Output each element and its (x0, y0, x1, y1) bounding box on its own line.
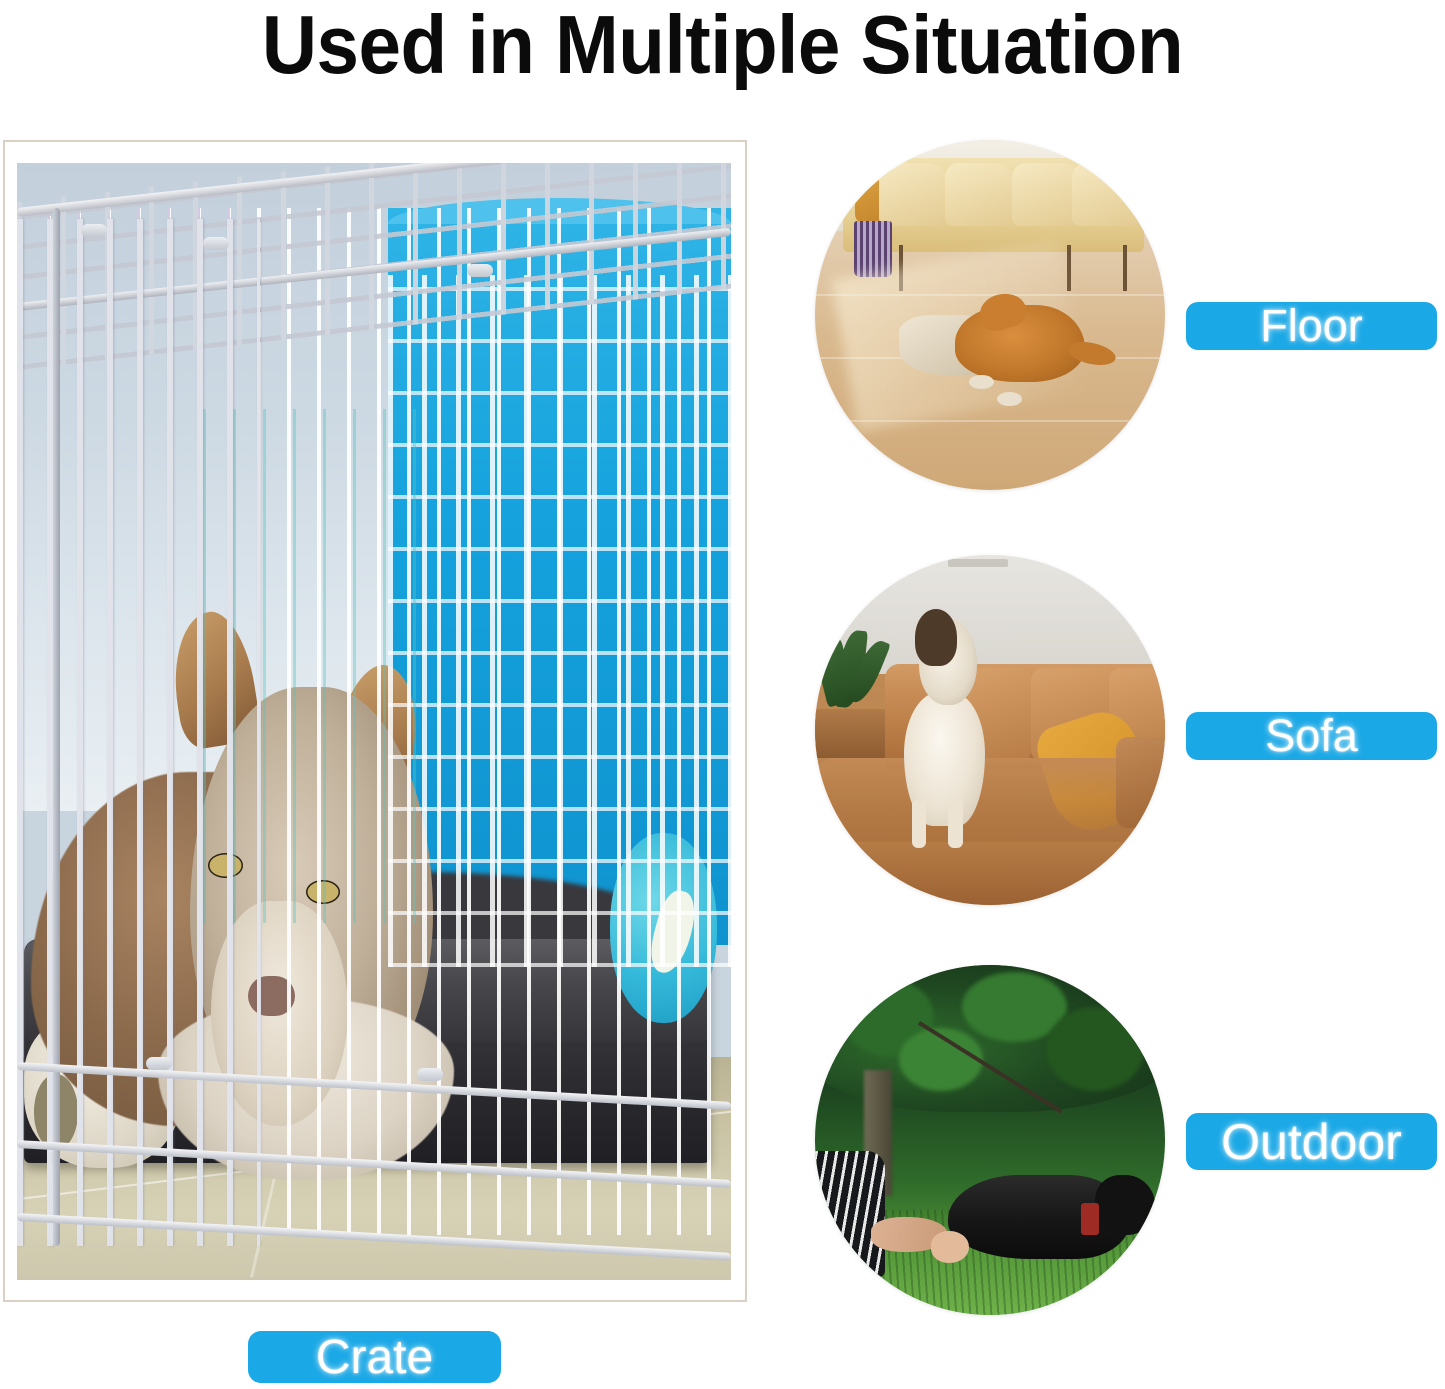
situation-outdoor-photo (815, 965, 1165, 1315)
sofa-scene-dog-leg (912, 800, 927, 848)
crate-photo-card (3, 140, 747, 1302)
situation-floor (815, 140, 1165, 490)
situation-sofa-photo (815, 555, 1165, 905)
page-title: Used in Multiple Situation (58, 0, 1387, 92)
outdoor-scene (815, 965, 1165, 1315)
label-badge-sofa: Sofa (1186, 712, 1437, 760)
floor-scene-cushion (1012, 163, 1078, 225)
floor-scene-cushion (945, 163, 1011, 225)
sofa-scene-ceiling-vent (948, 559, 1008, 568)
floor-scene-dog-paw (997, 392, 1022, 406)
floor-scene-cushion (879, 163, 945, 225)
border-collie-dog (31, 654, 559, 1190)
label-badge-outdoor: Outdoor (1186, 1113, 1437, 1170)
outdoor-scene-dog-head (1095, 1175, 1155, 1235)
sofa-scene (815, 555, 1165, 905)
label-badge-crate: Crate (248, 1331, 501, 1383)
outdoor-scene-dog-collar (1081, 1203, 1099, 1235)
sofa-scene-sofa-arm (1116, 737, 1165, 828)
sofa-scene-dog-topknot (915, 609, 957, 665)
floor-scene (815, 140, 1165, 490)
outdoor-scene-foliage (1046, 1007, 1144, 1091)
floor-scene-cushion (1072, 163, 1138, 225)
dog-eye-left (208, 853, 242, 878)
floor-scene-dog-paw (969, 375, 994, 389)
floor-scene-sofa-leg (1123, 245, 1127, 291)
situation-outdoor (815, 965, 1165, 1315)
label-badge-floor: Floor (1186, 302, 1437, 350)
situation-floor-photo (815, 140, 1165, 490)
floor-scene-sofa-leg (1067, 245, 1071, 291)
dog-nose (248, 976, 296, 1016)
outdoor-scene-person-hand (931, 1231, 970, 1263)
plush-toy-teal (610, 833, 717, 1023)
sofa-scene-seat-front (815, 842, 1165, 905)
sofa-scene-dog-leg (948, 800, 963, 848)
sofa-scene-dog (899, 618, 990, 835)
situation-sofa (815, 555, 1165, 905)
outdoor-scene-person (815, 1151, 885, 1277)
crate-photo (17, 163, 731, 1280)
floor-scene-striped-vase (854, 221, 893, 277)
